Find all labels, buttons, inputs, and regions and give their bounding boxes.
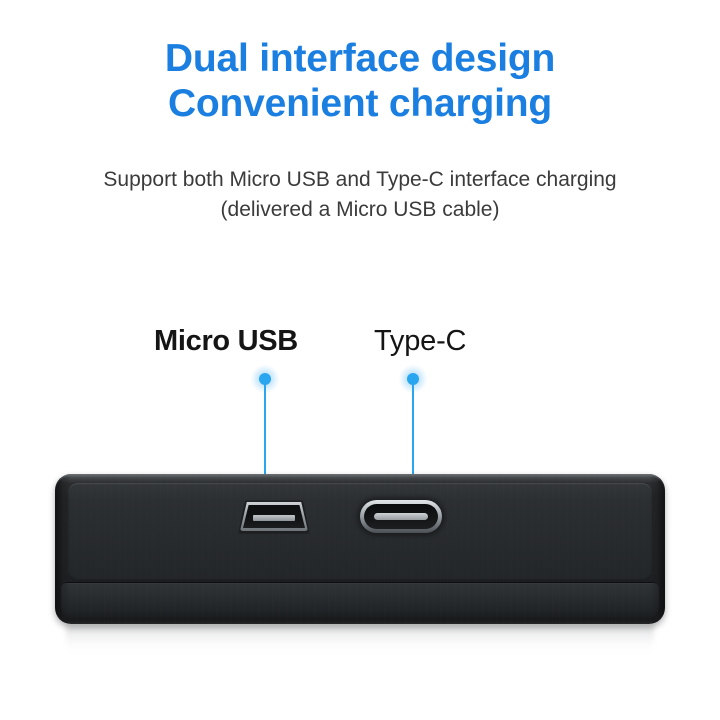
device-texture-overlay	[55, 474, 665, 624]
callout-label-type-c: Type-C	[374, 325, 466, 358]
headline-line-1: Dual interface design	[0, 36, 720, 81]
headline: Dual interface design Convenient chargin…	[0, 36, 720, 126]
product-feature-image: Dual interface design Convenient chargin…	[0, 0, 720, 720]
subtitle-line-1: Support both Micro USB and Type-C interf…	[0, 165, 720, 195]
subtitle-line-2: (delivered a Micro USB cable)	[0, 195, 720, 225]
micro-usb-port	[240, 502, 308, 531]
headline-line-2: Convenient charging	[0, 81, 720, 126]
subtitle: Support both Micro USB and Type-C interf…	[0, 165, 720, 225]
device-body	[55, 474, 665, 624]
callout-label-micro-usb: Micro USB	[154, 325, 298, 358]
type-c-port-tongue	[374, 513, 428, 520]
device-reflection	[66, 624, 654, 654]
micro-usb-port-tongue	[253, 515, 295, 521]
callout-dot-icon	[259, 373, 271, 385]
device-photo	[55, 474, 665, 626]
type-c-port	[360, 500, 442, 533]
callout-dot-icon	[407, 373, 419, 385]
